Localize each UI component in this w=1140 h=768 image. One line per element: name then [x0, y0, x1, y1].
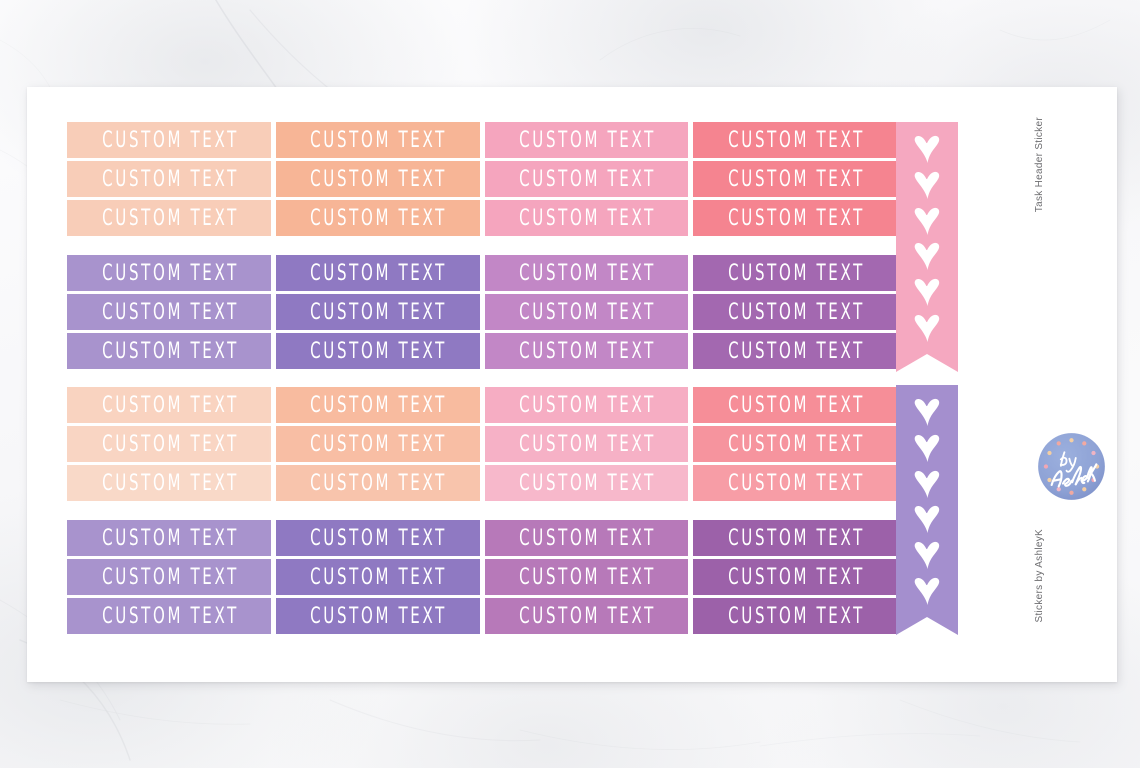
sticker-block: CUSTOM TEXTCUSTOM TEXTCUSTOM TEXTCUSTOM … [67, 520, 897, 634]
banner-heart [912, 505, 943, 534]
sticker-label: CUSTOM TEXT [725, 472, 864, 494]
banner-heart [912, 278, 943, 307]
sticker-label: CUSTOM TEXT [725, 301, 864, 323]
sticker-label: CUSTOM TEXT [517, 566, 656, 588]
sticker-label: CUSTOM TEXT [308, 168, 447, 190]
sticker-block: CUSTOM TEXTCUSTOM TEXTCUSTOM TEXTCUSTOM … [67, 387, 897, 501]
sticker-sheet-photo: CUSTOM TEXTCUSTOM TEXTCUSTOM TEXTCUSTOM … [0, 0, 1140, 768]
sticker-label: CUSTOM TEXT [308, 340, 447, 362]
custom-text-sticker[interactable]: CUSTOM TEXT [276, 598, 480, 634]
banner-heart [912, 577, 943, 606]
sticker-label: CUSTOM TEXT [725, 394, 864, 416]
custom-text-sticker[interactable]: CUSTOM TEXT [276, 333, 480, 369]
sticker-label: CUSTOM TEXT [517, 340, 656, 362]
custom-text-sticker[interactable]: CUSTOM TEXT [693, 161, 897, 197]
custom-text-sticker[interactable]: CUSTOM TEXT [67, 520, 271, 556]
custom-text-sticker[interactable]: CUSTOM TEXT [693, 426, 897, 462]
custom-text-sticker[interactable]: CUSTOM TEXT [693, 294, 897, 330]
custom-text-sticker[interactable]: CUSTOM TEXT [693, 255, 897, 291]
sticker-label: CUSTOM TEXT [308, 207, 447, 229]
sticker-label: CUSTOM TEXT [99, 340, 238, 362]
sticker-block: CUSTOM TEXTCUSTOM TEXTCUSTOM TEXTCUSTOM … [67, 122, 897, 236]
sticker-label: CUSTOM TEXT [725, 527, 864, 549]
banner-heart [912, 314, 943, 343]
sticker-label: CUSTOM TEXT [517, 605, 656, 627]
banner-heart [912, 434, 943, 463]
custom-text-sticker[interactable]: CUSTOM TEXT [485, 520, 689, 556]
sticker-row: CUSTOM TEXTCUSTOM TEXTCUSTOM TEXTCUSTOM … [67, 294, 897, 330]
sticker-label: CUSTOM TEXT [725, 433, 864, 455]
custom-text-sticker[interactable]: CUSTOM TEXT [693, 200, 897, 236]
sticker-row: CUSTOM TEXTCUSTOM TEXTCUSTOM TEXTCUSTOM … [67, 161, 897, 197]
custom-text-sticker[interactable]: CUSTOM TEXT [485, 294, 689, 330]
custom-text-sticker[interactable]: CUSTOM TEXT [485, 333, 689, 369]
custom-text-sticker[interactable]: CUSTOM TEXT [67, 333, 271, 369]
sticker-label: CUSTOM TEXT [99, 207, 238, 229]
custom-text-sticker[interactable]: CUSTOM TEXT [67, 426, 271, 462]
sticker-label: CUSTOM TEXT [308, 262, 447, 284]
sticker-grid: CUSTOM TEXTCUSTOM TEXTCUSTOM TEXTCUSTOM … [67, 122, 897, 645]
sticker-label: CUSTOM TEXT [99, 394, 238, 416]
custom-text-sticker[interactable]: CUSTOM TEXT [67, 200, 271, 236]
banner-heart [912, 242, 943, 271]
heart-banner-pink[interactable] [896, 122, 958, 372]
custom-text-sticker[interactable]: CUSTOM TEXT [67, 294, 271, 330]
sticker-label: CUSTOM TEXT [99, 527, 238, 549]
sticker-row: CUSTOM TEXTCUSTOM TEXTCUSTOM TEXTCUSTOM … [67, 598, 897, 634]
custom-text-sticker[interactable]: CUSTOM TEXT [485, 161, 689, 197]
banner-heart [912, 135, 943, 164]
sticker-label: CUSTOM TEXT [725, 207, 864, 229]
heart-icon [912, 207, 943, 236]
custom-text-sticker[interactable]: CUSTOM TEXT [67, 122, 271, 158]
custom-text-sticker[interactable]: CUSTOM TEXT [67, 465, 271, 501]
sticker-label: CUSTOM TEXT [99, 129, 238, 151]
sticker-label: CUSTOM TEXT [517, 527, 656, 549]
sticker-label: CUSTOM TEXT [517, 262, 656, 284]
custom-text-sticker[interactable]: CUSTOM TEXT [485, 598, 689, 634]
heart-icon [912, 470, 943, 499]
custom-text-sticker[interactable]: CUSTOM TEXT [276, 161, 480, 197]
sticker-label: CUSTOM TEXT [308, 433, 447, 455]
sticker-row: CUSTOM TEXTCUSTOM TEXTCUSTOM TEXTCUSTOM … [67, 426, 897, 462]
sticker-label: CUSTOM TEXT [308, 472, 447, 494]
sticker-row: CUSTOM TEXTCUSTOM TEXTCUSTOM TEXTCUSTOM … [67, 122, 897, 158]
custom-text-sticker[interactable]: CUSTOM TEXT [67, 598, 271, 634]
by-ashleyk-logo-badge[interactable] [1036, 431, 1107, 502]
custom-text-sticker[interactable]: CUSTOM TEXT [485, 200, 689, 236]
sticker-label: CUSTOM TEXT [725, 168, 864, 190]
heart-icon [912, 434, 943, 463]
heart-icon [912, 398, 943, 427]
custom-text-sticker[interactable]: CUSTOM TEXT [485, 426, 689, 462]
sticker-label: CUSTOM TEXT [725, 262, 864, 284]
banner-heart [912, 207, 943, 236]
sticker-label: CUSTOM TEXT [308, 129, 447, 151]
sticker-label: CUSTOM TEXT [308, 566, 447, 588]
sticker-label: CUSTOM TEXT [725, 129, 864, 151]
caption-task-header-sticker: Task Header Sticker [1034, 117, 1045, 212]
custom-text-sticker[interactable]: CUSTOM TEXT [693, 387, 897, 423]
sticker-row: CUSTOM TEXTCUSTOM TEXTCUSTOM TEXTCUSTOM … [67, 559, 897, 595]
custom-text-sticker[interactable]: CUSTOM TEXT [485, 465, 689, 501]
custom-text-sticker[interactable]: CUSTOM TEXT [276, 294, 480, 330]
sticker-label: CUSTOM TEXT [308, 527, 447, 549]
banner-body [896, 122, 958, 350]
banner-heart [912, 171, 943, 200]
heart-icon [912, 577, 943, 606]
sticker-row: CUSTOM TEXTCUSTOM TEXTCUSTOM TEXTCUSTOM … [67, 200, 897, 236]
banner-body [896, 385, 958, 613]
custom-text-sticker[interactable]: CUSTOM TEXT [276, 255, 480, 291]
custom-text-sticker[interactable]: CUSTOM TEXT [693, 465, 897, 501]
heart-icon [912, 314, 943, 343]
custom-text-sticker[interactable]: CUSTOM TEXT [276, 520, 480, 556]
sticker-label: CUSTOM TEXT [517, 129, 656, 151]
custom-text-sticker[interactable]: CUSTOM TEXT [693, 598, 897, 634]
sticker-label: CUSTOM TEXT [308, 605, 447, 627]
heart-icon [912, 135, 943, 164]
sticker-label: CUSTOM TEXT [99, 262, 238, 284]
custom-text-sticker[interactable]: CUSTOM TEXT [276, 559, 480, 595]
sticker-label: CUSTOM TEXT [99, 168, 238, 190]
sticker-label: CUSTOM TEXT [517, 433, 656, 455]
custom-text-sticker[interactable]: CUSTOM TEXT [67, 161, 271, 197]
sticker-label: CUSTOM TEXT [517, 394, 656, 416]
heart-icon [912, 541, 943, 570]
custom-text-sticker[interactable]: CUSTOM TEXT [485, 122, 689, 158]
sticker-label: CUSTOM TEXT [725, 605, 864, 627]
custom-text-sticker[interactable]: CUSTOM TEXT [276, 387, 480, 423]
sticker-row: CUSTOM TEXTCUSTOM TEXTCUSTOM TEXTCUSTOM … [67, 255, 897, 291]
custom-text-sticker[interactable]: CUSTOM TEXT [276, 122, 480, 158]
sticker-row: CUSTOM TEXTCUSTOM TEXTCUSTOM TEXTCUSTOM … [67, 520, 897, 556]
heart-icon [912, 278, 943, 307]
sticker-label: CUSTOM TEXT [725, 566, 864, 588]
banner-notch [896, 613, 958, 635]
custom-text-sticker[interactable]: CUSTOM TEXT [693, 122, 897, 158]
sticker-label: CUSTOM TEXT [308, 394, 447, 416]
heart-icon [912, 505, 943, 534]
custom-text-sticker[interactable]: CUSTOM TEXT [485, 255, 689, 291]
custom-text-sticker[interactable]: CUSTOM TEXT [67, 387, 271, 423]
custom-text-sticker[interactable]: CUSTOM TEXT [67, 255, 271, 291]
custom-text-sticker[interactable]: CUSTOM TEXT [693, 520, 897, 556]
custom-text-sticker[interactable]: CUSTOM TEXT [276, 200, 480, 236]
sticker-block: CUSTOM TEXTCUSTOM TEXTCUSTOM TEXTCUSTOM … [67, 255, 897, 369]
banner-notch [896, 350, 958, 372]
banner-heart [912, 470, 943, 499]
sticker-label: CUSTOM TEXT [517, 168, 656, 190]
sticker-label: CUSTOM TEXT [517, 472, 656, 494]
sticker-row: CUSTOM TEXTCUSTOM TEXTCUSTOM TEXTCUSTOM … [67, 387, 897, 423]
custom-text-sticker[interactable]: CUSTOM TEXT [693, 559, 897, 595]
custom-text-sticker[interactable]: CUSTOM TEXT [276, 426, 480, 462]
custom-text-sticker[interactable]: CUSTOM TEXT [276, 465, 480, 501]
sticker-row: CUSTOM TEXTCUSTOM TEXTCUSTOM TEXTCUSTOM … [67, 465, 897, 501]
sticker-sheet-paper: CUSTOM TEXTCUSTOM TEXTCUSTOM TEXTCUSTOM … [27, 87, 1117, 682]
custom-text-sticker[interactable]: CUSTOM TEXT [693, 333, 897, 369]
sticker-label: CUSTOM TEXT [99, 472, 238, 494]
sticker-label: CUSTOM TEXT [99, 301, 238, 323]
heart-icon [912, 242, 943, 271]
caption-stickers-by-ashleyk: Stickers by AshleyK [1034, 529, 1045, 623]
banner-heart [912, 541, 943, 570]
sticker-label: CUSTOM TEXT [308, 301, 447, 323]
sticker-label: CUSTOM TEXT [517, 207, 656, 229]
sticker-label: CUSTOM TEXT [99, 433, 238, 455]
banner-heart [912, 398, 943, 427]
sticker-label: CUSTOM TEXT [725, 340, 864, 362]
heart-icon [912, 171, 943, 200]
custom-text-sticker[interactable]: CUSTOM TEXT [67, 559, 271, 595]
sticker-row: CUSTOM TEXTCUSTOM TEXTCUSTOM TEXTCUSTOM … [67, 333, 897, 369]
sticker-label: CUSTOM TEXT [99, 605, 238, 627]
sticker-label: CUSTOM TEXT [99, 566, 238, 588]
custom-text-sticker[interactable]: CUSTOM TEXT [485, 387, 689, 423]
heart-banner-purple[interactable] [896, 385, 958, 635]
custom-text-sticker[interactable]: CUSTOM TEXT [485, 559, 689, 595]
sticker-label: CUSTOM TEXT [517, 301, 656, 323]
